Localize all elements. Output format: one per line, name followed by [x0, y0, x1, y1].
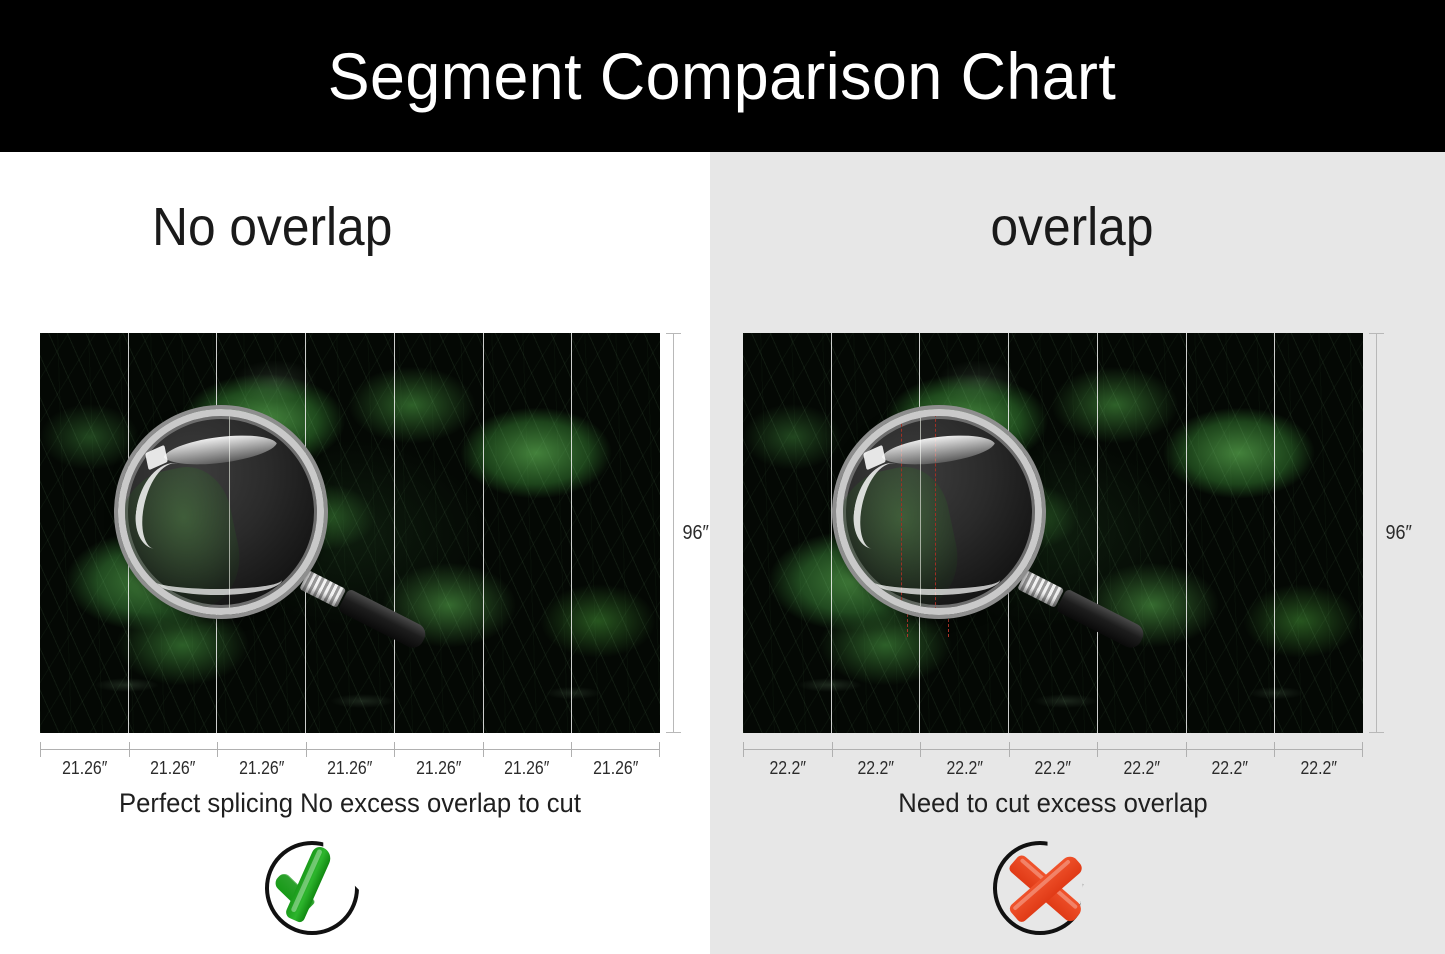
- check-icon-strokes: [264, 838, 368, 938]
- segment-width-label: 21.26″: [505, 758, 550, 779]
- segment-width-label: 21.26″: [62, 758, 107, 779]
- width-dimension-cell: 22.2″: [1186, 742, 1275, 780]
- segment-width-label: 21.26″: [327, 758, 372, 779]
- segment-width-label: 21.26″: [150, 758, 195, 779]
- dimension-rule: [1097, 749, 1186, 750]
- segment-width-label: 22.2″: [1301, 758, 1337, 779]
- title-bar: Segment Comparison Chart: [0, 0, 1445, 152]
- width-dimension-cell: 21.26″: [217, 742, 306, 780]
- width-dimension-cell: 22.2″: [1009, 742, 1098, 780]
- dimension-rule: [743, 749, 832, 750]
- dimension-rule: [40, 749, 129, 750]
- width-dimension-cell: 22.2″: [832, 742, 921, 780]
- panel-no-overlap: No overlap: [0, 152, 710, 954]
- panel-caption-right: Need to cut excess overlap: [759, 788, 1348, 819]
- wallpaper-preview-right: [743, 333, 1363, 733]
- dimension-rule: [217, 749, 306, 750]
- width-dimension-strip-right: 22.2″ 22.2″ 22.2″ 22.2″ 22.2″ 22.2″ 22.2…: [743, 742, 1363, 780]
- height-dimension-label-right: 96″: [1385, 333, 1411, 733]
- segment-width-label: 22.2″: [769, 758, 805, 779]
- dimension-rule: [306, 749, 395, 750]
- width-dimension-cell: 21.26″: [571, 742, 660, 780]
- segment-width-label: 22.2″: [1212, 758, 1248, 779]
- comparison-panels: No overlap: [0, 152, 1445, 954]
- cross-icon: [990, 838, 1090, 938]
- panel-heading-left: No overlap: [28, 196, 681, 258]
- segment-width-label: 21.26″: [239, 758, 284, 779]
- width-dimension-cell: 22.2″: [1097, 742, 1186, 780]
- width-dimension-cell: 22.2″: [1274, 742, 1363, 780]
- width-dimension-cell: 21.26″: [306, 742, 395, 780]
- tropical-leaf-image-right: [743, 333, 1363, 733]
- segment-width-label: 22.2″: [858, 758, 894, 779]
- height-dimension-line-right: [1376, 333, 1377, 733]
- wallpaper-preview-left: [40, 333, 660, 733]
- dimension-rule: [1274, 749, 1363, 750]
- segment-width-label: 21.26″: [593, 758, 638, 779]
- segment-width-label: 22.2″: [946, 758, 982, 779]
- panel-overlap: overlap: [710, 152, 1445, 954]
- page-title: Segment Comparison Chart: [328, 38, 1117, 114]
- height-dimension-line-left: [673, 333, 674, 733]
- dimension-rule: [1186, 749, 1275, 750]
- segment-width-label: 21.26″: [416, 758, 461, 779]
- width-dimension-cell: 22.2″: [920, 742, 1009, 780]
- dimension-rule: [483, 749, 572, 750]
- dimension-rule: [571, 749, 660, 750]
- segment-width-label: 22.2″: [1123, 758, 1159, 779]
- dimension-rule: [920, 749, 1009, 750]
- width-dimension-cell: 21.26″: [129, 742, 218, 780]
- dimension-rule: [394, 749, 483, 750]
- segment-comparison-chart: Segment Comparison Chart No overlap: [0, 0, 1445, 954]
- cross-icon-strokes: [996, 840, 1094, 936]
- dimension-rule: [129, 749, 218, 750]
- check-icon: [262, 838, 362, 938]
- width-dimension-strip-left: 21.26″ 21.26″ 21.26″ 21.26″ 21.26″ 21.26…: [40, 742, 660, 780]
- dimension-rule: [1009, 749, 1098, 750]
- height-dimension-label-left: 96″: [682, 333, 708, 733]
- width-dimension-cell: 21.26″: [40, 742, 129, 780]
- panel-caption-left: Perfect splicing No excess overlap to cu…: [56, 788, 645, 819]
- width-dimension-cell: 21.26″: [483, 742, 572, 780]
- segment-width-label: 22.2″: [1035, 758, 1071, 779]
- dimension-rule: [832, 749, 921, 750]
- tropical-leaf-image-left: [40, 333, 660, 733]
- width-dimension-cell: 22.2″: [743, 742, 832, 780]
- width-dimension-cell: 21.26″: [394, 742, 483, 780]
- panel-heading-right: overlap: [739, 196, 1415, 258]
